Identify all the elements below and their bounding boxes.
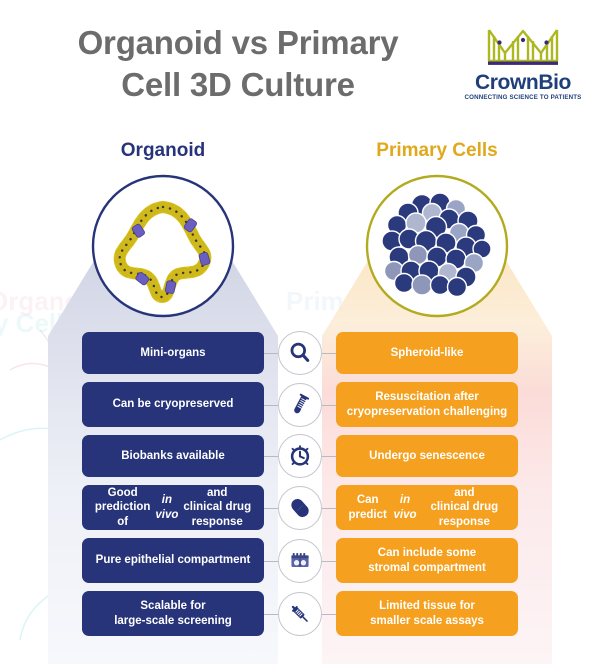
well-plate-icon[interactable] bbox=[278, 539, 322, 583]
table-row: Can be cryopreserved bbox=[0, 382, 600, 427]
organoid-cell: Biobanks available bbox=[82, 435, 264, 477]
page-title-line2: Cell 3D Culture bbox=[121, 66, 355, 103]
organoid-cell: Can be cryopreserved bbox=[82, 382, 264, 427]
primary-cells-cell: Limited tissue forsmaller scale assays bbox=[336, 591, 518, 636]
page-title: Organoid vs Primary Cell 3D Culture bbox=[28, 22, 448, 105]
logo-wordmark: CrownBio bbox=[462, 71, 584, 95]
infographic-canvas: Organoid y Cells Primary Organoid vs Pri… bbox=[0, 0, 600, 664]
magnifier-icon[interactable] bbox=[278, 331, 322, 375]
header: Organoid vs Primary Cell 3D Culture Crow… bbox=[0, 0, 600, 126]
spheroid-cluster-icon bbox=[364, 173, 510, 319]
syringe-icon[interactable] bbox=[278, 592, 322, 636]
logo-tagline: CONNECTING SCIENCE TO PATIENTS bbox=[462, 94, 584, 101]
primary-cells-cell: Undergo senescence bbox=[336, 435, 518, 477]
test-tube-icon[interactable] bbox=[278, 383, 322, 427]
organoid-cell: Pure epithelial compartment bbox=[82, 538, 264, 583]
organoid-illustration bbox=[90, 173, 236, 319]
primary-cells-cell: Spheroid-like bbox=[336, 332, 518, 374]
comparison-table: Mini-organs Spheroid-like Can be cryopre… bbox=[0, 332, 600, 644]
clock-icon[interactable] bbox=[278, 434, 322, 478]
organoid-cell: Mini-organs bbox=[82, 332, 264, 374]
primary-cells-cell: Resuscitation aftercryopreservation chal… bbox=[336, 382, 518, 427]
column-heading-primary-cells: Primary Cells bbox=[322, 140, 552, 162]
pill-capsule-icon[interactable] bbox=[278, 486, 322, 530]
table-row: Scalable forlarge-scale screening bbox=[0, 591, 600, 636]
brand-logo: CrownBio CONNECTING SCIENCE TO PATIENTS bbox=[462, 27, 584, 107]
primary-cells-illustration bbox=[364, 173, 510, 319]
column-heading-organoid: Organoid bbox=[48, 140, 278, 162]
table-row: Pure epithelial compartment bbox=[0, 538, 600, 583]
table-row: Biobanks available Undergo s bbox=[0, 435, 600, 477]
organoid-chain-icon bbox=[90, 173, 236, 319]
table-row: Good prediction of in vivo andclinical d… bbox=[0, 485, 600, 530]
primary-cells-cell: Can predict in vivo andclinical drug res… bbox=[336, 485, 518, 530]
organoid-cell: Good prediction of in vivo andclinical d… bbox=[82, 485, 264, 530]
page-title-line1: Organoid vs Primary bbox=[78, 24, 399, 61]
table-row: Mini-organs Spheroid-like bbox=[0, 332, 600, 374]
crown-icon bbox=[486, 27, 560, 69]
primary-cells-cell: Can include somestromal compartment bbox=[336, 538, 518, 583]
organoid-cell: Scalable forlarge-scale screening bbox=[82, 591, 264, 636]
